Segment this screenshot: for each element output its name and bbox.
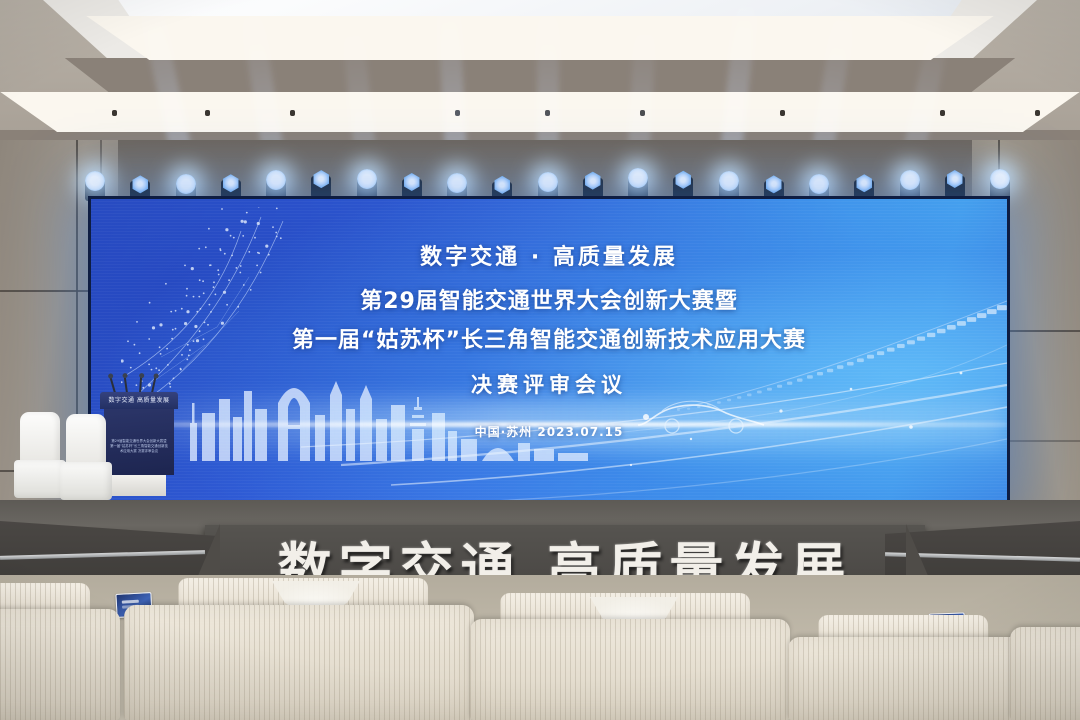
podium-body-text: 第29届智能交通世界大会创新大赛暨 第一届“姑苏杯”长三角智能交通创新技术应用大… — [110, 439, 168, 454]
led-screen-text-block: 数字交通 · 高质量发展 第29届智能交通世界大会创新大赛暨 第一届“姑苏杯”长… — [91, 199, 1007, 505]
hex-wash-light — [670, 169, 696, 199]
ceiling-fixture-dot — [545, 110, 550, 116]
audience-seating-foreground — [0, 575, 1080, 720]
ceiling-recess-upper — [0, 58, 1080, 94]
screen-title-line-2: 第一届“姑苏杯”长三角智能交通创新技术应用大赛 — [292, 322, 806, 354]
ceiling-fixture-dot — [640, 110, 645, 116]
audience-chair-1 — [0, 609, 120, 720]
conference-hall-photo: 数字交通 · 高质量发展 第29届智能交通世界大会创新大赛暨 第一届“姑苏杯”长… — [0, 0, 1080, 720]
podium-top: 数字交通 高质量发展 — [100, 392, 178, 409]
hex-wash-light — [942, 168, 968, 198]
stage-chair-white-1 — [14, 412, 66, 498]
podium-base — [112, 475, 166, 496]
screen-subtitle: 决赛评审会议 — [471, 369, 627, 399]
screen-date-location: 中国·苏州 2023.07.15 — [475, 423, 624, 440]
ceiling-fixture-dot — [455, 110, 460, 116]
ceiling-fixture-dot — [780, 110, 785, 116]
screen-supertitle: 数字交通 · 高质量发展 — [420, 239, 678, 271]
round-spotlight-icon — [987, 169, 1013, 199]
ceiling-fixture-dot — [205, 110, 210, 116]
round-spotlight-icon — [354, 169, 380, 199]
hex-wash-light — [308, 168, 334, 198]
ceiling-fixture-dot — [290, 110, 295, 116]
led-screen: 数字交通 · 高质量发展 第29届智能交通世界大会创新大赛暨 第一届“姑苏杯”长… — [88, 196, 1010, 508]
podium-top-text: 数字交通 高质量发展 — [100, 395, 178, 404]
stage-chair-white-2 — [60, 414, 112, 500]
ceiling-fixture-dot — [940, 110, 945, 116]
podium-body: 第29届智能交通世界大会创新大赛暨 第一届“姑苏杯”长三角智能交通创新技术应用大… — [104, 409, 174, 475]
audience-chair-3 — [470, 619, 790, 720]
audience-chair-2 — [124, 605, 474, 720]
round-spotlight-icon — [625, 168, 651, 198]
cove-light-strip-lower — [0, 92, 1080, 132]
ceiling-fixture-dot — [1035, 110, 1040, 116]
led-screen-surface: 数字交通 · 高质量发展 第29届智能交通世界大会创新大赛暨 第一届“姑苏杯”长… — [91, 199, 1007, 505]
ceiling-fixture-dot — [112, 110, 117, 116]
audience-chair-4 — [788, 637, 1038, 720]
screen-title-line-1: 第29届智能交通世界大会创新大赛暨 — [360, 283, 738, 315]
cove-light-strip-upper — [0, 16, 1080, 60]
audience-chair-5 — [1010, 627, 1080, 720]
